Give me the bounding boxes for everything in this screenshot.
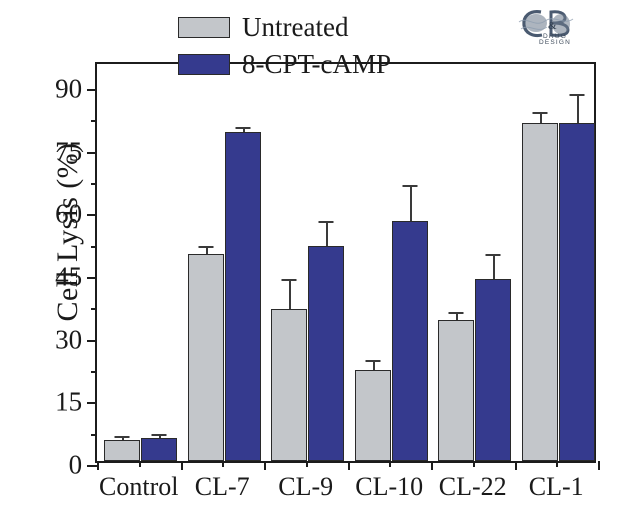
error-bar (410, 187, 412, 220)
y-axis-tick (87, 465, 97, 467)
error-bar (577, 96, 579, 123)
y-axis-tick (87, 89, 97, 91)
bar-treated (475, 279, 511, 461)
y-axis-tick (87, 402, 97, 404)
x-axis-minor-tick (473, 461, 475, 467)
error-bar (493, 256, 495, 279)
error-bar-cap (569, 94, 584, 96)
x-axis-category-label: Control (99, 472, 178, 502)
bar-untreated (271, 309, 307, 461)
error-bar-cap (282, 279, 297, 281)
y-axis-tick-label: 0 (69, 450, 83, 481)
y-axis-minor-tick (91, 120, 97, 122)
plot-area: 0153045607590 (95, 62, 596, 463)
x-axis-category-label: CL-22 (439, 472, 507, 502)
error-bar-cap (115, 436, 130, 438)
y-axis-tick (87, 214, 97, 216)
bar-untreated (188, 254, 224, 461)
y-axis-minor-tick (91, 371, 97, 373)
chart-legend: Untreated 8-CPT-cAMP (178, 12, 391, 86)
error-bar-cap (486, 254, 501, 256)
error-bar-cap (532, 112, 547, 114)
bar-untreated (522, 123, 558, 461)
y-axis-tick-label: 30 (55, 324, 82, 355)
y-axis-tick-label: 15 (55, 387, 82, 418)
error-bar (159, 436, 161, 438)
x-axis-category-label: CL-7 (195, 472, 250, 502)
error-bar (243, 129, 245, 132)
bar-chart-figure: Cell Lysis (%) 0153045607590 Untreated 8… (0, 0, 626, 521)
y-axis-tick-label: 45 (55, 262, 82, 293)
error-bar-cap (152, 434, 167, 436)
bar-treated (559, 123, 595, 461)
y-axis-minor-tick (91, 246, 97, 248)
error-bar (289, 281, 291, 308)
bar-untreated (438, 320, 474, 461)
error-bar (540, 114, 542, 122)
error-bar-cap (449, 312, 464, 314)
x-axis-tick (598, 461, 600, 470)
error-bar-cap (198, 246, 213, 248)
error-bar (373, 362, 375, 370)
y-axis-tick (87, 277, 97, 279)
error-bar-cap (402, 185, 417, 187)
bar-treated (225, 132, 261, 461)
legend-label-treated: 8-CPT-cAMP (242, 49, 391, 80)
y-axis-tick-label: 90 (55, 74, 82, 105)
legend-label-untreated: Untreated (242, 12, 348, 43)
error-bar (326, 223, 328, 246)
y-axis-minor-tick (91, 308, 97, 310)
bar-treated (392, 221, 428, 461)
error-bar-cap (319, 221, 334, 223)
x-axis-minor-tick (306, 461, 308, 467)
bar-untreated (355, 370, 391, 461)
y-axis-tick-label: 75 (55, 136, 82, 167)
x-axis-minor-tick (222, 461, 224, 467)
legend-item: Untreated (178, 12, 391, 42)
x-axis-tick (264, 461, 266, 470)
bar-treated (141, 438, 177, 461)
error-bar-cap (235, 127, 250, 129)
x-axis-tick (515, 461, 517, 470)
y-axis-tick-label: 60 (55, 199, 82, 230)
legend-item: 8-CPT-cAMP (178, 49, 391, 79)
y-axis-minor-tick (91, 183, 97, 185)
error-bar-cap (365, 360, 380, 362)
error-bar (122, 438, 124, 441)
x-axis-tick (348, 461, 350, 470)
x-axis-minor-tick (556, 461, 558, 467)
y-axis-tick (87, 152, 97, 154)
legend-swatch-treated (178, 54, 230, 75)
legend-swatch-untreated (178, 17, 230, 38)
x-axis-tick (431, 461, 433, 470)
error-bar (456, 314, 458, 320)
x-axis-minor-tick (389, 461, 391, 467)
x-axis-tick (97, 461, 99, 470)
x-axis-category-label: CL-9 (278, 472, 333, 502)
bar-treated (308, 246, 344, 461)
y-axis-minor-tick (91, 434, 97, 436)
y-axis-tick (87, 340, 97, 342)
error-bar (206, 248, 208, 254)
x-axis-category-label: CL-1 (529, 472, 584, 502)
x-axis-category-label: CL-10 (355, 472, 423, 502)
bar-untreated (104, 440, 140, 461)
x-axis-minor-tick (139, 461, 141, 467)
x-axis-tick (181, 461, 183, 470)
